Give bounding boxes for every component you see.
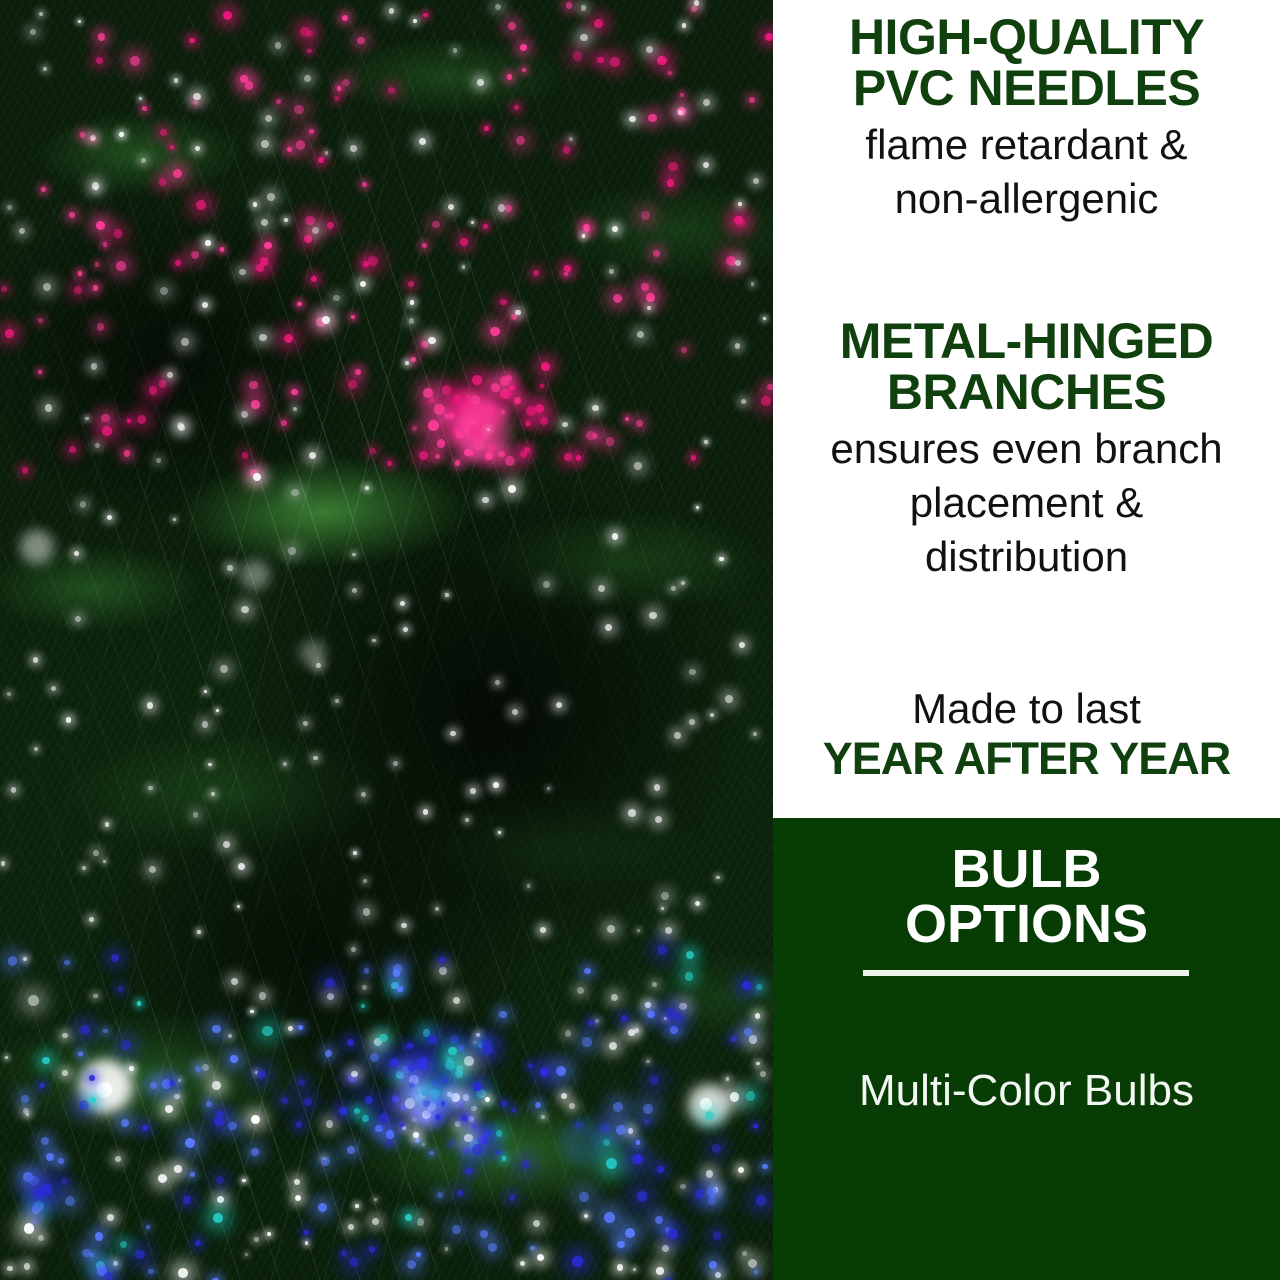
- feature-subtext-line1: flame retardant &: [773, 122, 1280, 168]
- feature-heading-line2: PVC NEEDLES: [773, 63, 1280, 114]
- bulb-options-green-section: BULB OPTIONS Multi-Color Bulbs: [773, 818, 1280, 1280]
- features-white-section: HIGH-QUALITY PVC NEEDLES flame retardant…: [773, 0, 1280, 818]
- fiber-optic-bulbs-layer: [0, 0, 773, 1280]
- feature-subtext-line3: distribution: [773, 534, 1280, 580]
- feature-block-metal-hinged-branches: METAL-HINGED BRANCHES ensures even branc…: [773, 316, 1280, 581]
- infographic-canvas: HIGH-QUALITY PVC NEEDLES flame retardant…: [0, 0, 1280, 1280]
- bulb-option-item: Multi-Color Bulbs: [773, 1066, 1280, 1116]
- feature-block-durability: Made to last YEAR AFTER YEAR: [773, 686, 1280, 782]
- feature-heading-line2: BRANCHES: [773, 367, 1280, 418]
- feature-heading-line1: HIGH-QUALITY: [773, 12, 1280, 63]
- bulb-options-divider: [863, 970, 1189, 976]
- christmas-tree-photo: [0, 0, 773, 1280]
- durability-subtext: Made to last: [773, 686, 1280, 732]
- feature-heading-line1: METAL-HINGED: [773, 316, 1280, 367]
- durability-heading: YEAR AFTER YEAR: [773, 736, 1280, 782]
- feature-subtext-line2: placement &: [773, 480, 1280, 526]
- features-panel: HIGH-QUALITY PVC NEEDLES flame retardant…: [773, 0, 1280, 1280]
- bulb-options-title-line2: OPTIONS: [773, 897, 1280, 952]
- feature-block-pvc-needles: HIGH-QUALITY PVC NEEDLES flame retardant…: [773, 12, 1280, 222]
- feature-subtext-line2: non-allergenic: [773, 176, 1280, 222]
- feature-subtext-line1: ensures even branch: [773, 426, 1280, 472]
- bulb-options-title: BULB OPTIONS: [773, 842, 1280, 952]
- bulb-options-title-line1: BULB: [773, 842, 1280, 897]
